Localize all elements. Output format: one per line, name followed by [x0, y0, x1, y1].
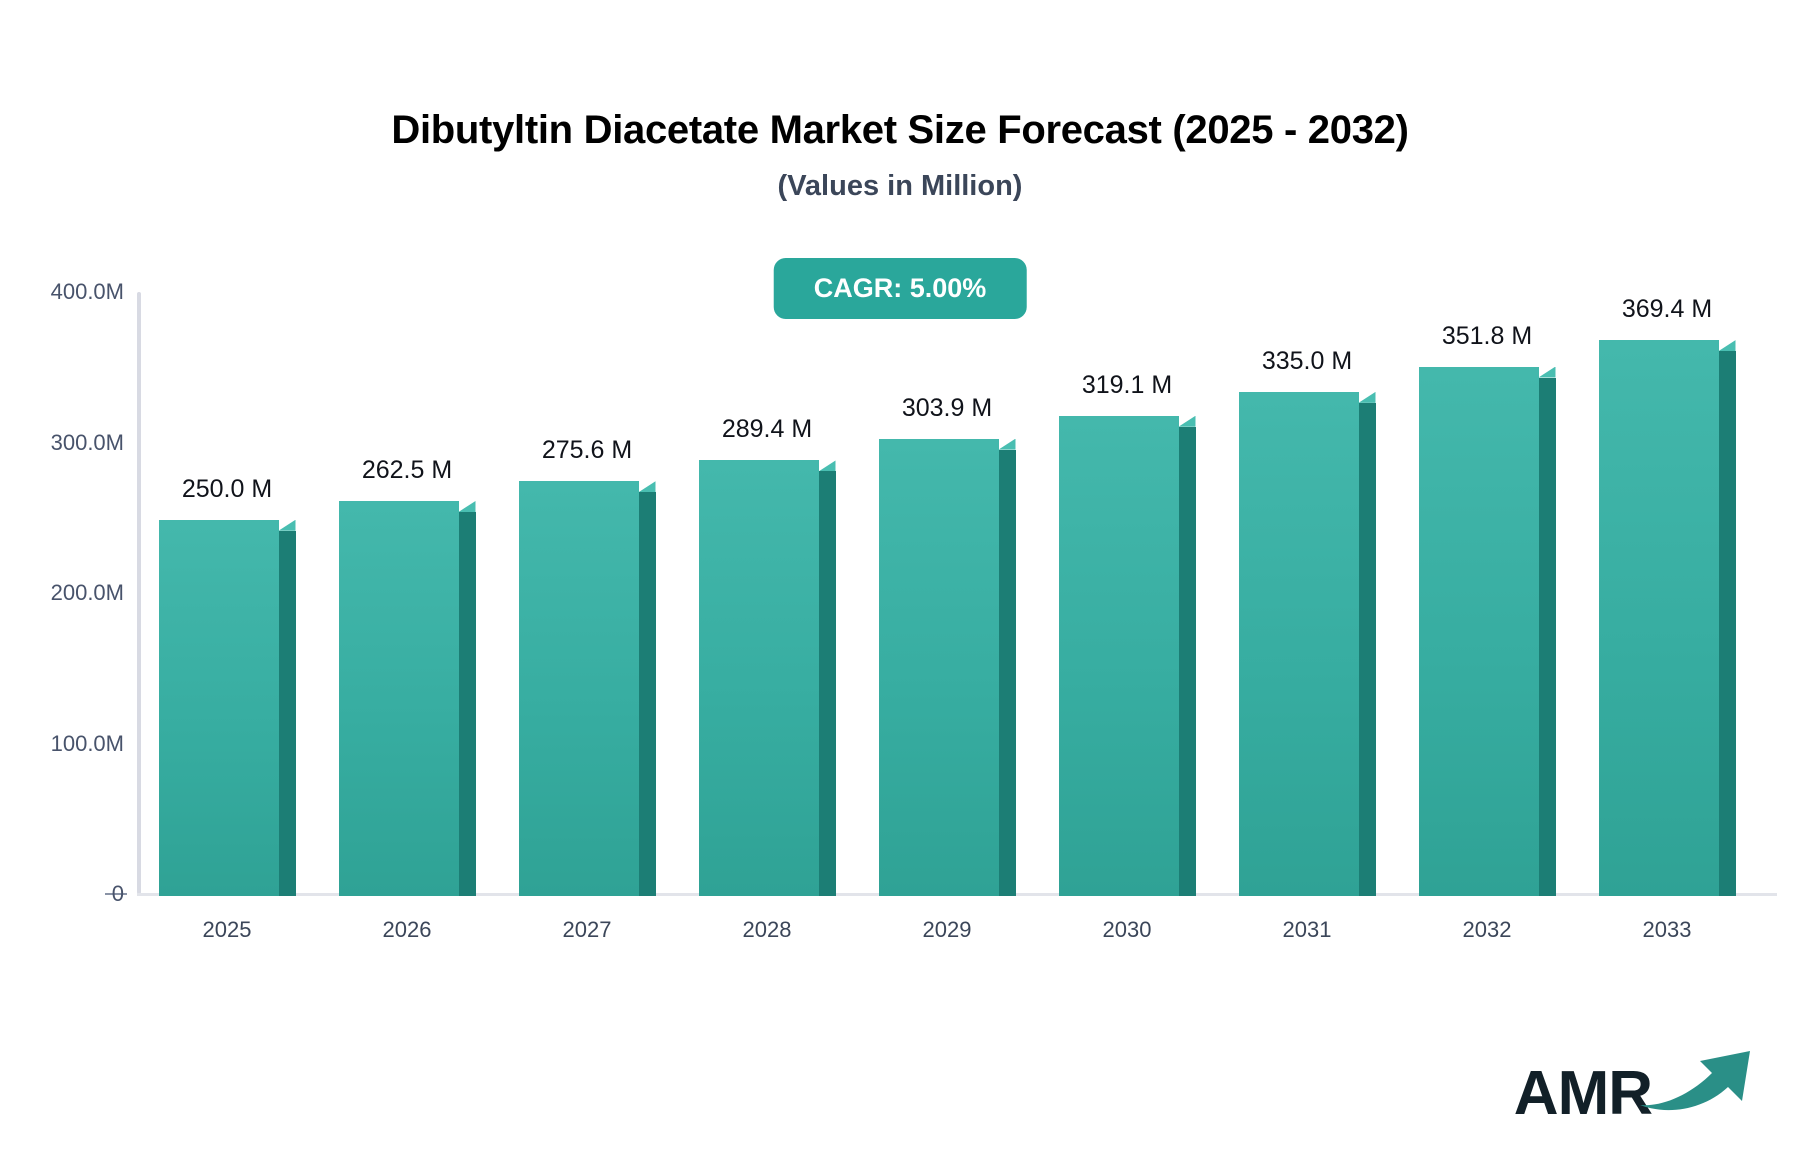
bar-value-label: 351.8 M	[1442, 322, 1532, 351]
bar-front-face	[519, 481, 639, 896]
bar-top-face	[1719, 340, 1736, 351]
bar-front-face	[699, 460, 819, 896]
bar-group[interactable]: 289.4 M2028	[699, 460, 819, 896]
bar-top-face	[1539, 367, 1556, 378]
x-axis-tick-label: 2029	[923, 917, 972, 943]
bar-top-face	[639, 481, 656, 492]
growth-arrow-icon	[1638, 1035, 1758, 1118]
chart-subtitle: (Values in Million)	[0, 170, 1800, 203]
y-axis-tick-label: 100.0M	[12, 731, 124, 757]
bar-top-face	[999, 439, 1016, 450]
bar-group[interactable]: 335.0 M2031	[1239, 392, 1359, 896]
bar-top-face	[459, 501, 476, 512]
bar-value-label: 303.9 M	[902, 394, 992, 423]
bar-front-face	[1059, 416, 1179, 896]
bar-value-label: 369.4 M	[1622, 295, 1712, 324]
bar-front-face	[1599, 340, 1719, 896]
bar-group[interactable]: 262.5 M2026	[339, 501, 459, 896]
bar-side-face	[1179, 427, 1196, 896]
bar-side-face	[639, 492, 656, 896]
bar-front-face	[1239, 392, 1359, 896]
bar-front-face	[339, 501, 459, 896]
x-axis-tick-label: 2032	[1463, 917, 1512, 943]
bar-group[interactable]: 250.0 M2025	[159, 520, 279, 896]
y-axis-tick-label: 400.0M	[12, 279, 124, 305]
bar-value-label: 335.0 M	[1262, 347, 1352, 376]
bar-side-face	[819, 471, 836, 896]
y-axis-tick-label: 0	[12, 881, 124, 907]
bar-front-face	[879, 439, 999, 896]
bar-side-face	[1359, 403, 1376, 896]
x-axis-tick-label: 2030	[1103, 917, 1152, 943]
bar-top-face	[279, 520, 296, 531]
bar-value-label: 275.6 M	[542, 436, 632, 465]
bar-front-face	[159, 520, 279, 896]
bar-side-face	[1539, 378, 1556, 896]
bar-group[interactable]: 369.4 M2033	[1599, 340, 1719, 896]
amr-logo: AMR	[1514, 1032, 1758, 1124]
chart-plot-area: 250.0 M2025262.5 M2026275.6 M2027289.4 M…	[137, 292, 1757, 896]
bar-value-label: 262.5 M	[362, 456, 452, 485]
y-axis-tick-label: 300.0M	[12, 430, 124, 456]
amr-wordmark: AMR	[1514, 1065, 1652, 1124]
bar-side-face	[279, 531, 296, 896]
page-title: Dibutyltin Diacetate Market Size Forecas…	[0, 108, 1800, 153]
bar-group[interactable]: 351.8 M2032	[1419, 367, 1539, 896]
bar-group[interactable]: 303.9 M2029	[879, 439, 999, 896]
bar-group[interactable]: 275.6 M2027	[519, 481, 639, 896]
bar-side-face	[999, 450, 1016, 896]
x-axis-tick-label: 2031	[1283, 917, 1332, 943]
bar-value-label: 319.1 M	[1082, 371, 1172, 400]
bar-value-label: 250.0 M	[182, 475, 272, 504]
x-axis-tick-label: 2027	[563, 917, 612, 943]
x-axis-tick-label: 2033	[1643, 917, 1692, 943]
bar-side-face	[1719, 351, 1736, 896]
bar-group[interactable]: 319.1 M2030	[1059, 416, 1179, 896]
bar-front-face	[1419, 367, 1539, 896]
x-axis-tick-label: 2028	[743, 917, 792, 943]
bar-side-face	[459, 512, 476, 896]
bar-top-face	[819, 460, 836, 471]
x-axis-tick-label: 2026	[383, 917, 432, 943]
bar-top-face	[1359, 392, 1376, 403]
y-axis-tick-labels: 0100.0M200.0M300.0M400.0M	[0, 0, 124, 1156]
x-axis-tick-label: 2025	[203, 917, 252, 943]
bar-top-face	[1179, 416, 1196, 427]
y-axis-tick-label: 200.0M	[12, 580, 124, 606]
bar-value-label: 289.4 M	[722, 415, 812, 444]
